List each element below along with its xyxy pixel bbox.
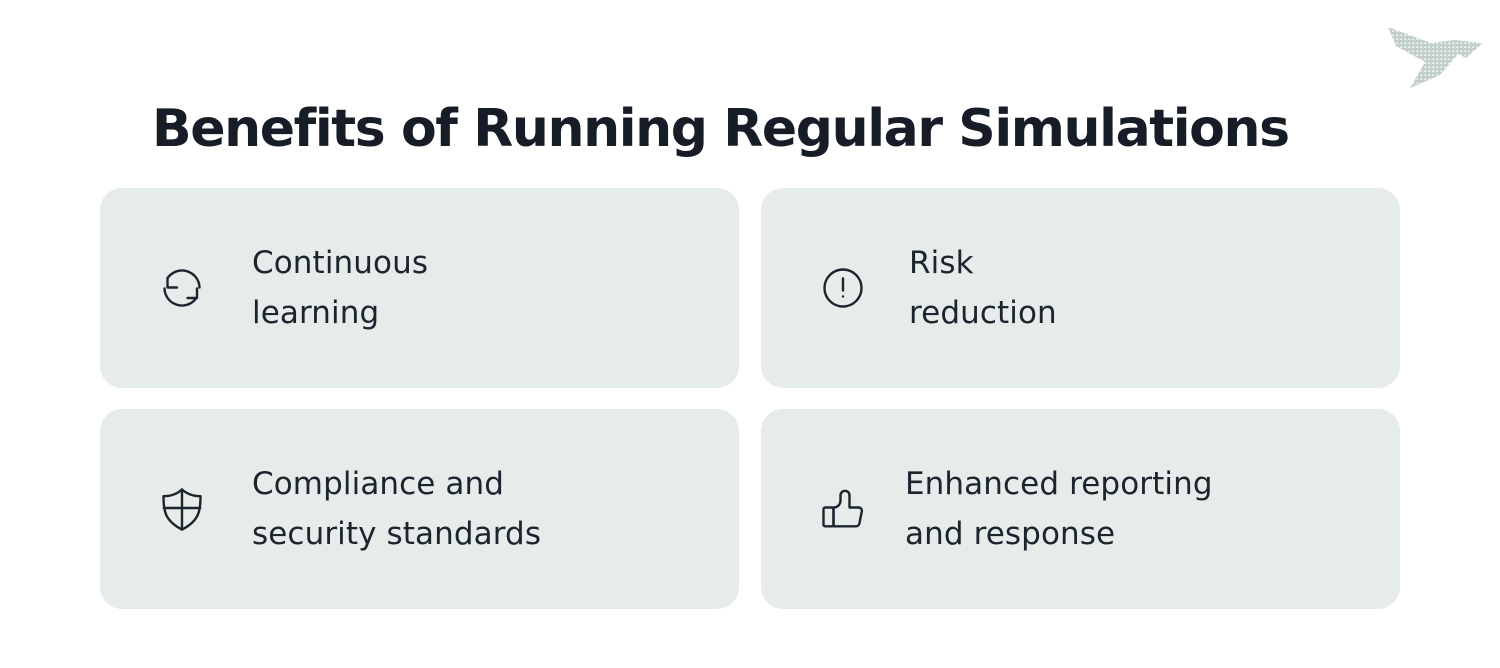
benefit-card-label: Risk reduction [909, 238, 1057, 338]
benefit-card-label: Continuous learning [252, 238, 428, 338]
benefit-card-label: Enhanced reporting and response [905, 459, 1213, 559]
benefit-card-enhanced-reporting[interactable]: Enhanced reporting and response [761, 409, 1400, 609]
refresh-cycle-icon [156, 262, 208, 314]
benefit-card-continuous-learning[interactable]: Continuous learning [100, 188, 739, 388]
benefits-card-grid: Continuous learning Risk reduction C [100, 188, 1400, 609]
infographic-page: Benefits of Running Regular Simulations … [0, 0, 1500, 668]
page-title: Benefits of Running Regular Simulations [152, 97, 1392, 161]
shield-cross-icon [156, 483, 208, 535]
benefit-card-risk-reduction[interactable]: Risk reduction [761, 188, 1400, 388]
exclamation-circle-icon [817, 262, 869, 314]
benefit-card-compliance-security[interactable]: Compliance and security standards [100, 409, 739, 609]
thumbs-up-icon [817, 483, 869, 535]
origami-bird-logo [1384, 18, 1486, 90]
benefit-card-label: Compliance and security standards [252, 459, 541, 559]
